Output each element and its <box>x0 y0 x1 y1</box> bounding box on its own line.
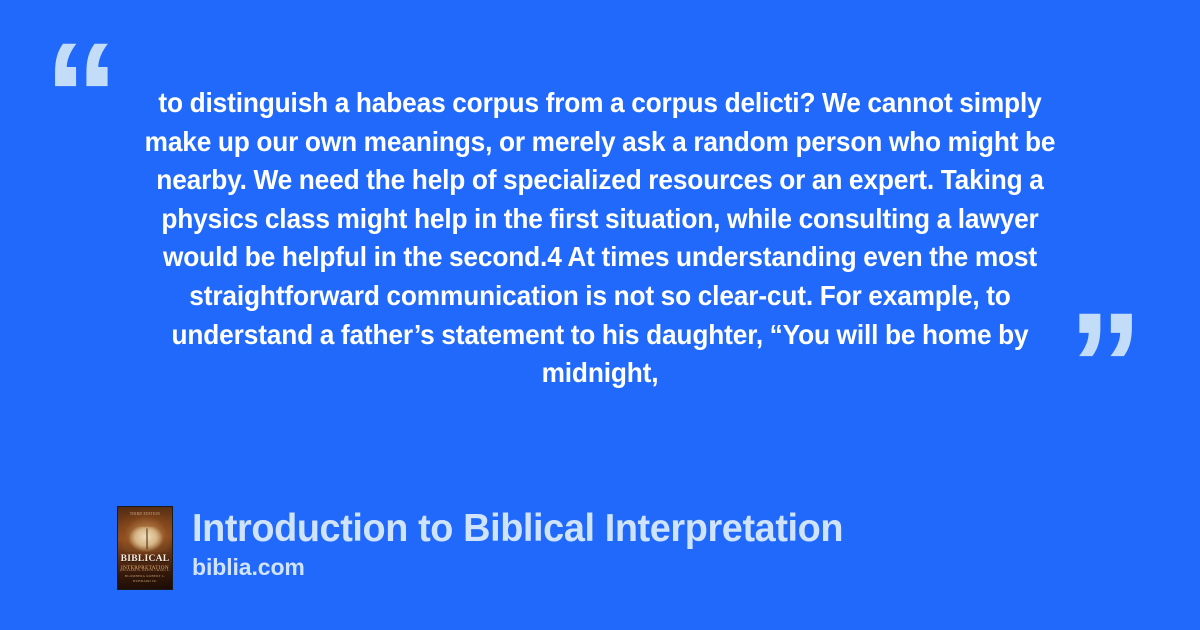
quote-block: to distinguish a habeas corpus from a co… <box>108 84 1092 393</box>
book-cover-title: BIBLICAL <box>118 554 172 564</box>
open-book-icon <box>122 527 171 552</box>
source-link[interactable]: biblia.com <box>192 554 863 580</box>
book-title: Introduction to Biblical Interpretation <box>192 507 843 551</box>
attribution-footer: THIRD EDITION BIBLICAL INTERPRETATION WI… <box>117 506 863 590</box>
book-cover-kicker: THIRD EDITION <box>118 512 172 516</box>
opening-quote-icon: “ <box>44 20 117 170</box>
quote-text: to distinguish a habeas corpus from a co… <box>130 84 1070 393</box>
quote-card: “ to distinguish a habeas corpus from a … <box>0 0 1200 630</box>
attribution-text: Introduction to Biblical Interpretation … <box>192 506 863 580</box>
book-cover-authors: WILLIAM W. KLEIN CRAIG L. BLOMBERG ROBER… <box>118 568 172 584</box>
book-cover-thumbnail: THIRD EDITION BIBLICAL INTERPRETATION WI… <box>117 506 173 590</box>
